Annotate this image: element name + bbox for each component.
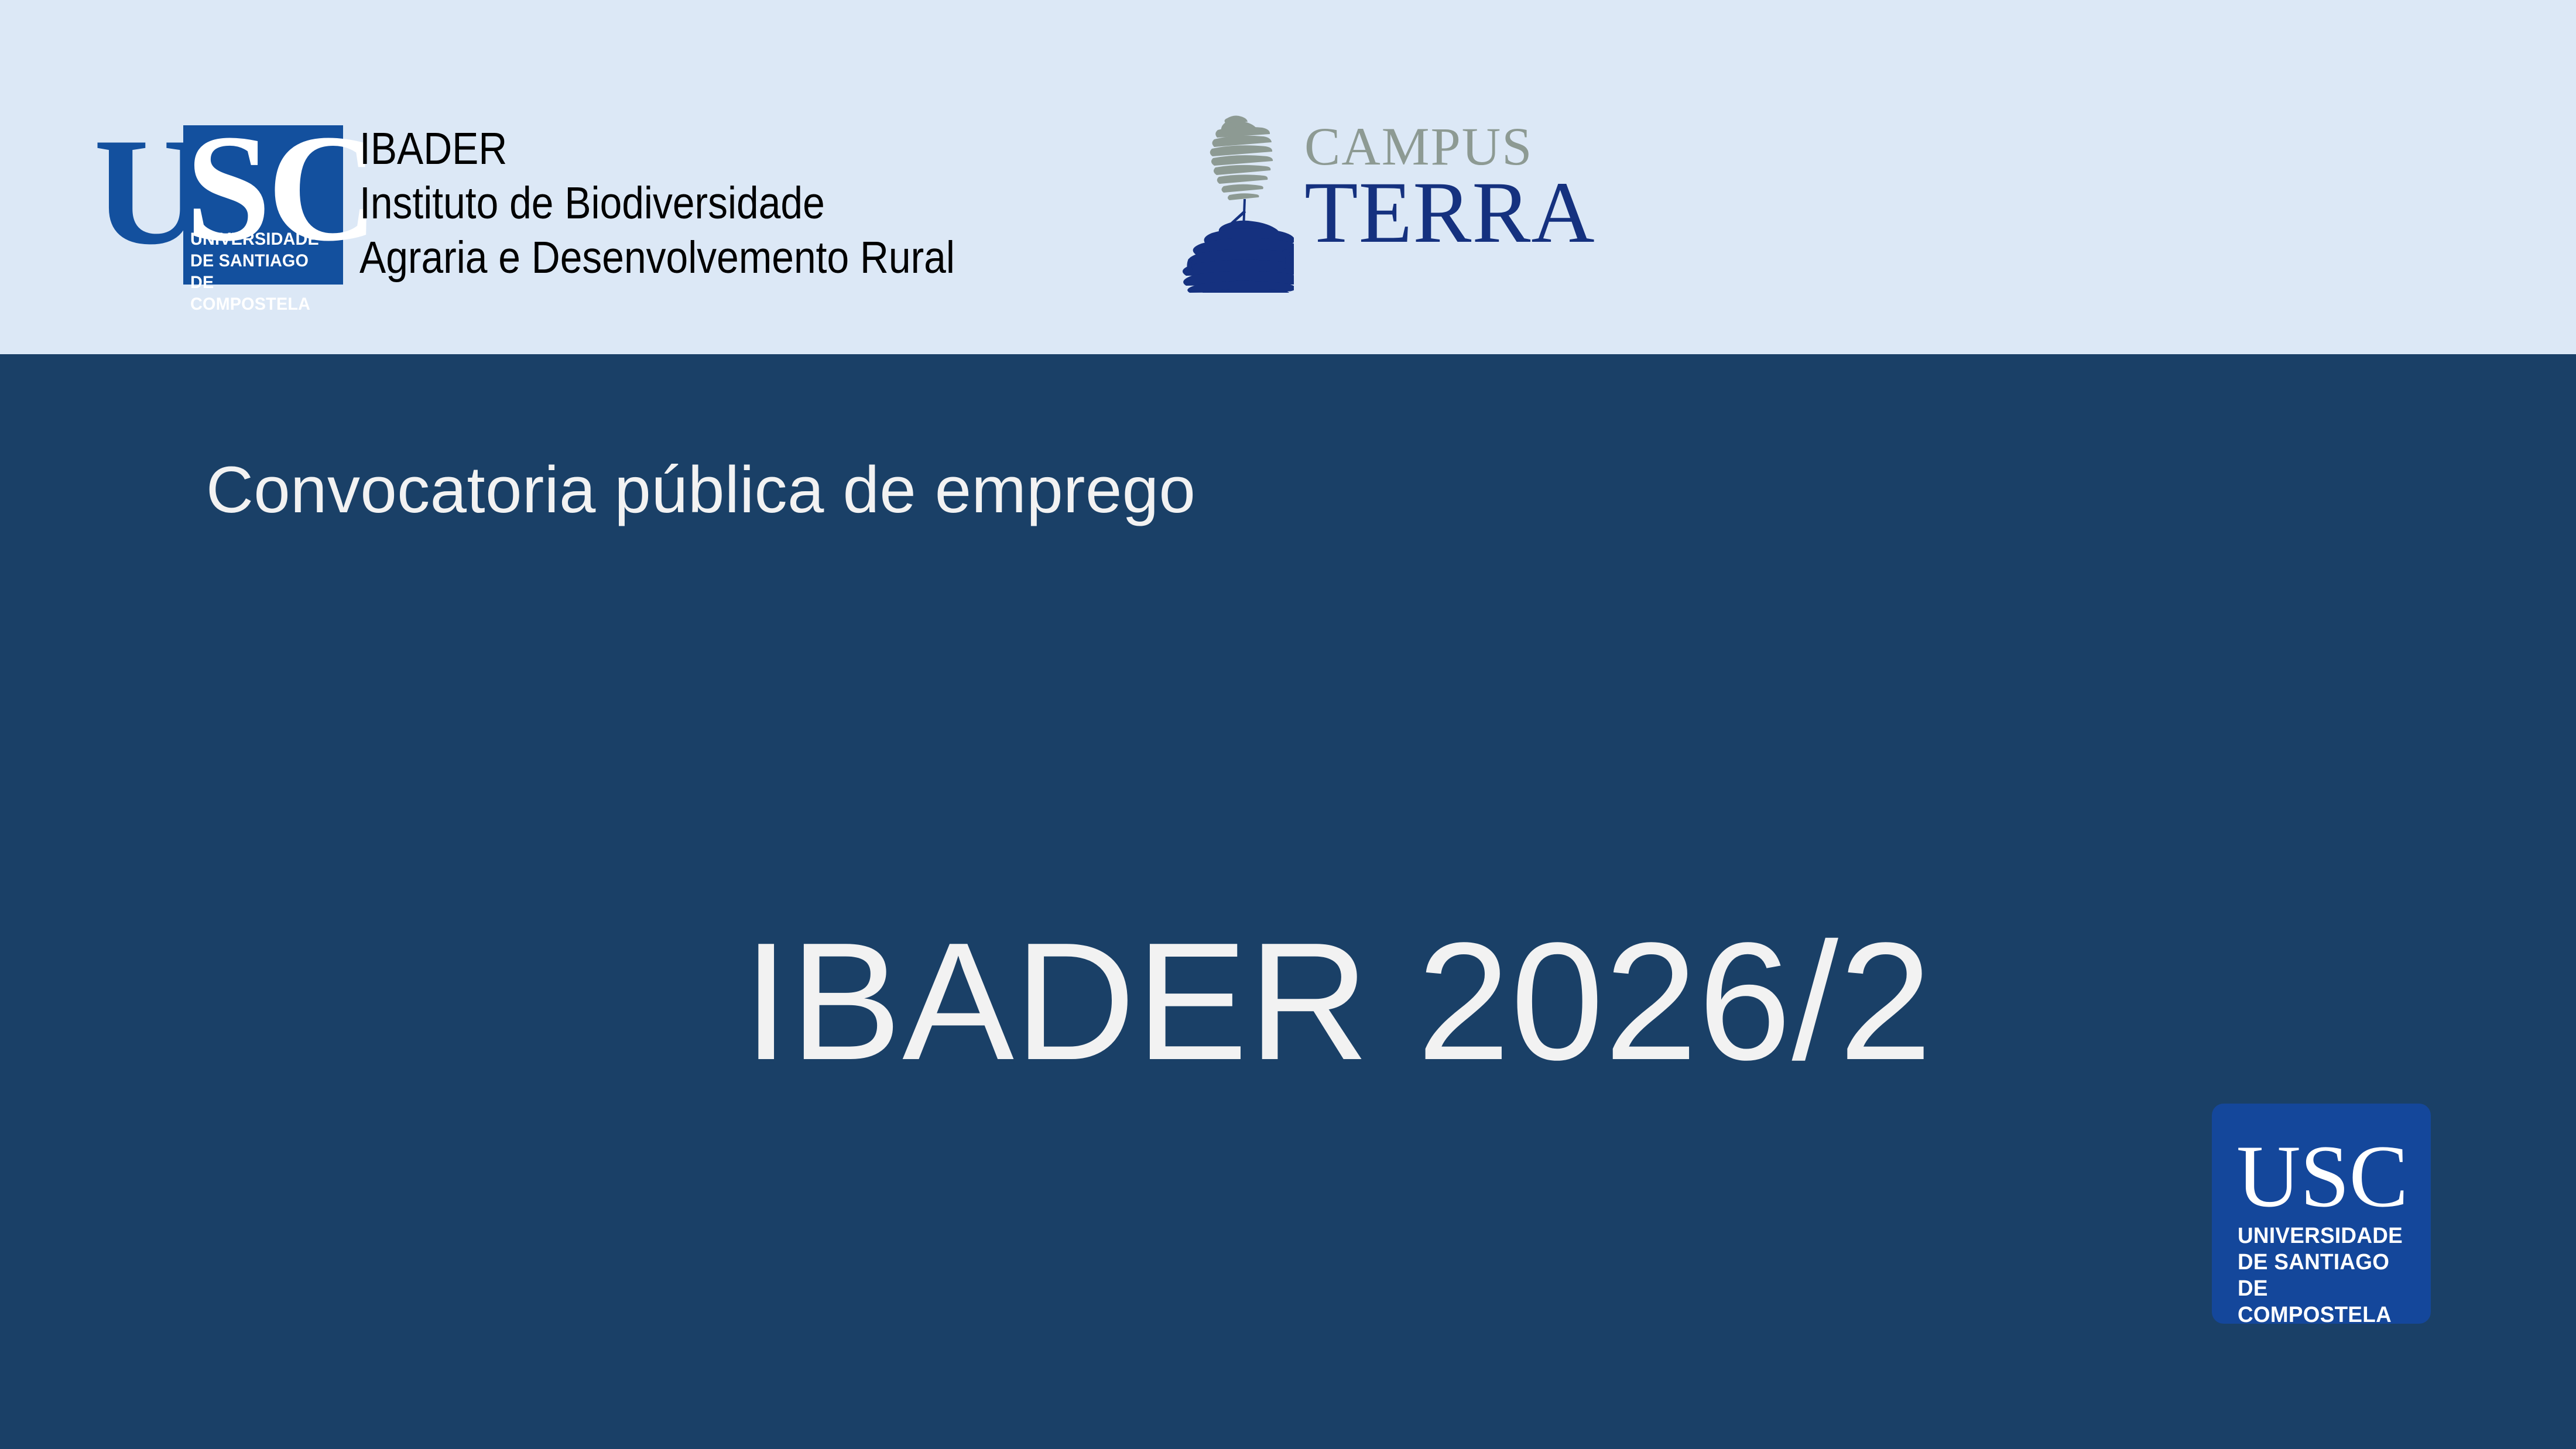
- usc-badge-subtext-line-1: UNIVERSIDADE: [2238, 1223, 2408, 1249]
- usc-logo-subtext-line-3: DE COMPOSTELA: [190, 272, 337, 315]
- institute-name-block: IBADER Instituto de Biodiversidade Agrar…: [359, 122, 1036, 285]
- usc-badge-subtext-line-3: DE COMPOSTELA: [2238, 1276, 2408, 1328]
- institute-name-line-2: Agraria e Desenvolvemento Rural: [359, 231, 955, 285]
- usc-logo-subtext-line-2: DE SANTIAGO: [190, 250, 337, 272]
- usc-badge-subtext-line-2: DE SANTIAGO: [2238, 1249, 2408, 1276]
- campus-terra-logo: CAMPUS TERRA: [1171, 111, 1616, 299]
- campus-terra-wordmark: CAMPUS TERRA: [1304, 118, 1621, 255]
- header-band: U SC UNIVERSIDADE DE SANTIAGO DE COMPOST…: [0, 0, 2576, 354]
- institute-acronym: IBADER: [359, 122, 955, 176]
- usc-logo-subtext: UNIVERSIDADE DE SANTIAGO DE COMPOSTELA: [190, 228, 337, 315]
- usc-badge-wordmark: USC: [2236, 1132, 2408, 1221]
- slide-headline: IBADER 2026/2: [0, 913, 2576, 1089]
- campus-terra-tree-icon: [1171, 111, 1294, 293]
- campus-terra-word-terra: TERRA: [1304, 170, 1621, 255]
- presentation-slide: U SC UNIVERSIDADE DE SANTIAGO DE COMPOST…: [0, 0, 2576, 1449]
- usc-corner-badge: USC UNIVERSIDADE DE SANTIAGO DE COMPOSTE…: [2212, 1104, 2431, 1324]
- slide-subtitle: Convocatoria pública de emprego: [206, 455, 1195, 525]
- institute-name-line-1: Instituto de Biodiversidade: [359, 176, 955, 231]
- usc-logo-blue-square: SC UNIVERSIDADE DE SANTIAGO DE COMPOSTEL…: [183, 125, 343, 285]
- usc-header-logo: U SC UNIVERSIDADE DE SANTIAGO DE COMPOST…: [94, 117, 345, 287]
- slide-body: Convocatoria pública de emprego IBADER 2…: [0, 354, 2576, 1449]
- usc-logo-subtext-line-1: UNIVERSIDADE: [190, 228, 337, 250]
- usc-badge-subtext: UNIVERSIDADE DE SANTIAGO DE COMPOSTELA: [2238, 1223, 2408, 1328]
